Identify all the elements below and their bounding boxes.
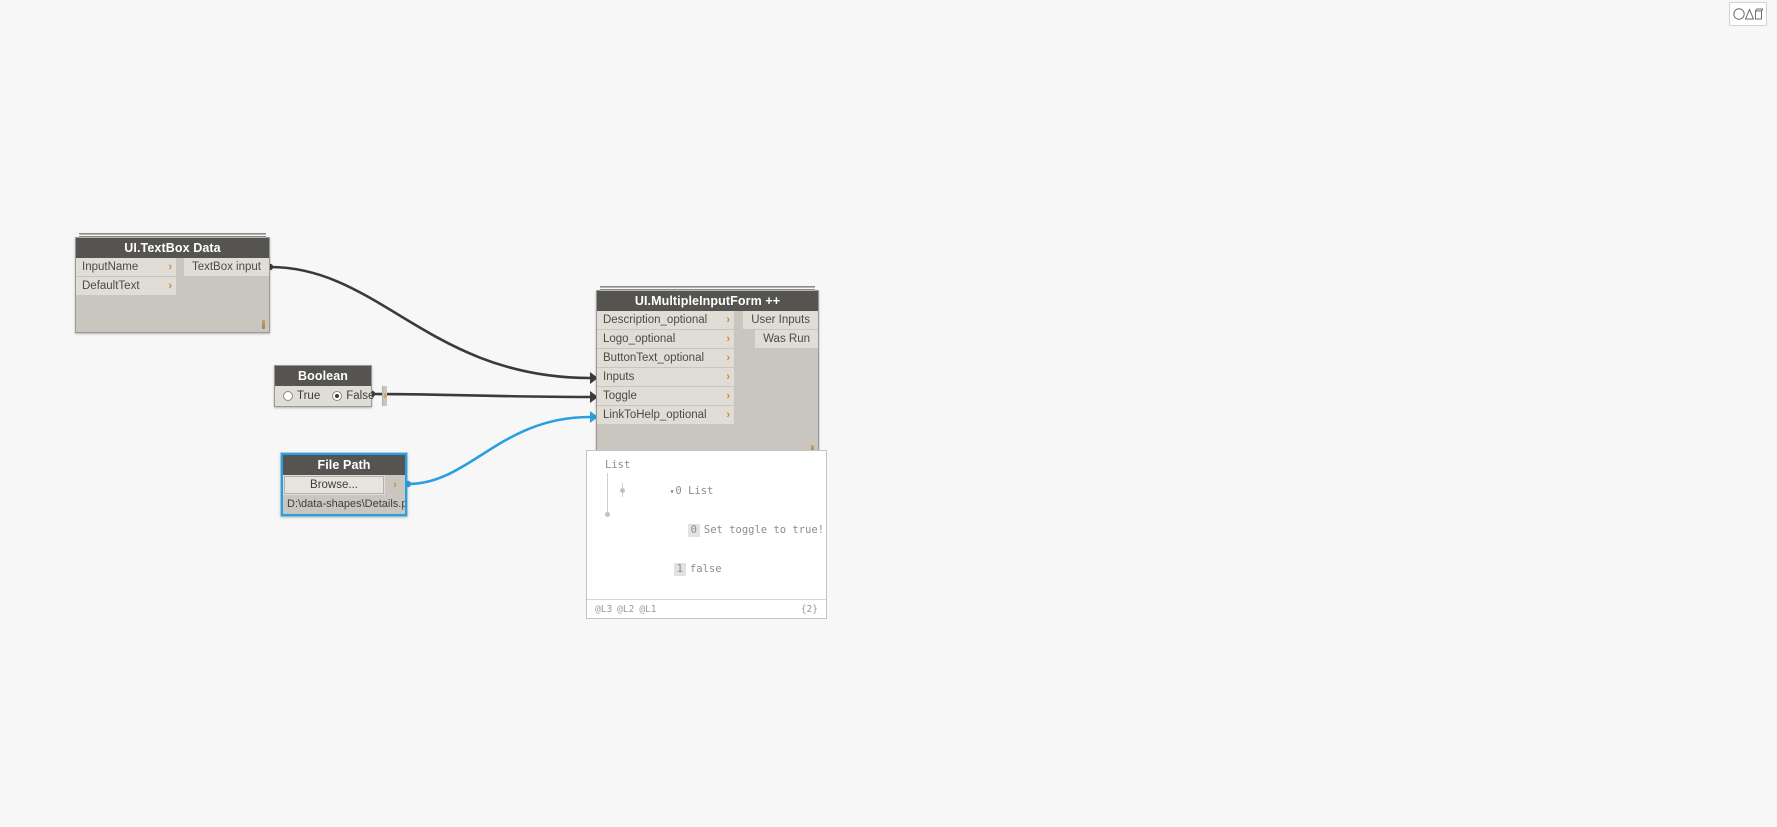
- input-port-label: Toggle: [603, 387, 637, 406]
- input-port-label: LinkToHelp_optional: [603, 406, 707, 425]
- node-title-ui-textbox-data: UI.TextBox Data: [76, 238, 269, 258]
- geometry-shapes-icon: [1733, 7, 1763, 21]
- chevron-right-icon: ›: [168, 281, 172, 292]
- output-port-textbox-input[interactable]: TextBox input: [184, 258, 269, 277]
- input-port-label: Inputs: [603, 368, 634, 387]
- preview-root-label: List: [597, 459, 816, 472]
- input-port-description-optional[interactable]: Description_optional ›: [597, 311, 734, 330]
- radio-true[interactable]: True: [283, 390, 320, 402]
- preview-levels[interactable]: @L3@L2@L1: [595, 604, 662, 615]
- wire-layer: [0, 0, 1777, 827]
- node-stack-decoration: [79, 233, 266, 237]
- resize-grip-icon[interactable]: [262, 320, 265, 329]
- chevron-right-icon: ›: [726, 334, 730, 345]
- output-port-boolean[interactable]: ›: [382, 386, 387, 406]
- node-graph-canvas[interactable]: UI.TextBox Data InputName › DefaultText …: [0, 0, 1777, 827]
- node-footer-area: [76, 296, 269, 332]
- radio-false[interactable]: False: [332, 390, 374, 402]
- preview-item-index: 1: [674, 563, 686, 576]
- preview-item-1: 0Set toggle to true!: [597, 511, 816, 550]
- chevron-right-icon: ›: [726, 372, 730, 383]
- output-ports-ui-textbox-data: TextBox input: [184, 258, 269, 296]
- boolean-options: True False: [275, 386, 382, 406]
- output-port-label: TextBox input: [192, 258, 261, 277]
- input-port-toggle[interactable]: Toggle ›: [597, 387, 734, 406]
- preview-item-index: 0: [688, 524, 700, 537]
- geometry-preview-toggle[interactable]: [1729, 2, 1767, 26]
- input-port-defaulttext[interactable]: DefaultText ›: [76, 277, 176, 296]
- input-port-linktohelp-optional[interactable]: LinkToHelp_optional ›: [597, 406, 734, 425]
- preview-count-badge: {2}: [801, 604, 818, 615]
- node-title-ui-multipleinputform: UI.MultipleInputForm ++: [597, 291, 818, 311]
- wire-boolean-to-toggle: [372, 394, 590, 397]
- output-port-user-inputs[interactable]: User Inputs: [743, 311, 818, 330]
- input-ports-ui-textbox-data: InputName › DefaultText ›: [76, 258, 176, 296]
- file-path-value: D:\data-shapes\Details.pdf: [283, 495, 405, 514]
- wire-textbox-to-inputs: [270, 267, 590, 378]
- radio-label-true: True: [297, 390, 320, 402]
- input-port-label: Description_optional: [603, 311, 707, 330]
- input-port-label: Logo_optional: [603, 330, 675, 349]
- node-ui-multipleinputform[interactable]: UI.MultipleInputForm ++ Description_opti…: [596, 290, 819, 458]
- node-title-file-path: File Path: [283, 455, 405, 475]
- node-boolean[interactable]: Boolean True False ›: [274, 365, 372, 407]
- chevron-right-icon: ›: [726, 410, 730, 421]
- output-port-label: User Inputs: [751, 311, 810, 330]
- wire-filepath-to-linktohelp: [408, 417, 590, 484]
- output-port-label: Was Run: [763, 330, 810, 349]
- radio-label-false: False: [346, 390, 374, 402]
- level-l2[interactable]: @L2: [617, 604, 634, 615]
- input-port-logo-optional[interactable]: Logo_optional ›: [597, 330, 734, 349]
- radio-dot-icon: [283, 391, 293, 401]
- node-ui-textbox-data[interactable]: UI.TextBox Data InputName › DefaultText …: [75, 237, 270, 333]
- level-l3[interactable]: @L3: [595, 604, 612, 615]
- node-body-boolean: True False ›: [275, 386, 371, 406]
- input-port-label: ButtonText_optional: [603, 349, 704, 368]
- output-ports-ui-multipleinputform: User Inputs Was Run: [743, 311, 818, 425]
- chevron-right-icon: ›: [383, 391, 387, 402]
- preview-item-value: false: [690, 563, 722, 575]
- preview-item-index: 0: [675, 485, 681, 497]
- node-title-boolean: Boolean: [275, 366, 371, 386]
- chevron-right-icon: ›: [726, 315, 730, 326]
- browse-button[interactable]: Browse...: [284, 476, 384, 494]
- input-port-buttontext-optional[interactable]: ButtonText_optional ›: [597, 349, 734, 368]
- input-port-label: DefaultText: [82, 277, 140, 296]
- preview-item-value: Set toggle to true!: [704, 524, 824, 536]
- preview-content: List ▾0 List 0Set toggle to true! 1false: [587, 451, 826, 599]
- input-ports-ui-multipleinputform: Description_optional › Logo_optional › B…: [597, 311, 734, 425]
- chevron-right-icon: ›: [726, 353, 730, 364]
- input-port-label: InputName: [82, 258, 138, 277]
- preview-item-2: 1false: [597, 550, 816, 589]
- level-l1[interactable]: @L1: [639, 604, 656, 615]
- node-body-ui-multipleinputform: Description_optional › Logo_optional › B…: [597, 311, 818, 425]
- input-port-inputname[interactable]: InputName ›: [76, 258, 176, 277]
- chevron-right-icon: ›: [393, 480, 397, 491]
- node-body-file-path: Browse... ›: [283, 475, 405, 495]
- preview-item-0: ▾0 List: [597, 472, 816, 511]
- preview-bubble[interactable]: List ▾0 List 0Set toggle to true! 1false…: [586, 450, 827, 619]
- input-port-inputs[interactable]: Inputs ›: [597, 368, 734, 387]
- radio-dot-icon: [332, 391, 342, 401]
- chevron-right-icon: ›: [168, 262, 172, 273]
- node-file-path[interactable]: File Path Browse... › D:\data-shapes\Det…: [281, 453, 407, 516]
- preview-item-value: List: [688, 485, 713, 497]
- output-port-file-path[interactable]: ›: [385, 475, 405, 495]
- node-stack-decoration: [600, 286, 815, 290]
- node-body-ui-textbox-data: InputName › DefaultText › TextBox input: [76, 258, 269, 296]
- caret-down-icon: ▾: [670, 487, 675, 496]
- preview-footer: @L3@L2@L1 {2}: [587, 599, 826, 618]
- output-port-was-run[interactable]: Was Run: [755, 330, 818, 349]
- chevron-right-icon: ›: [726, 391, 730, 402]
